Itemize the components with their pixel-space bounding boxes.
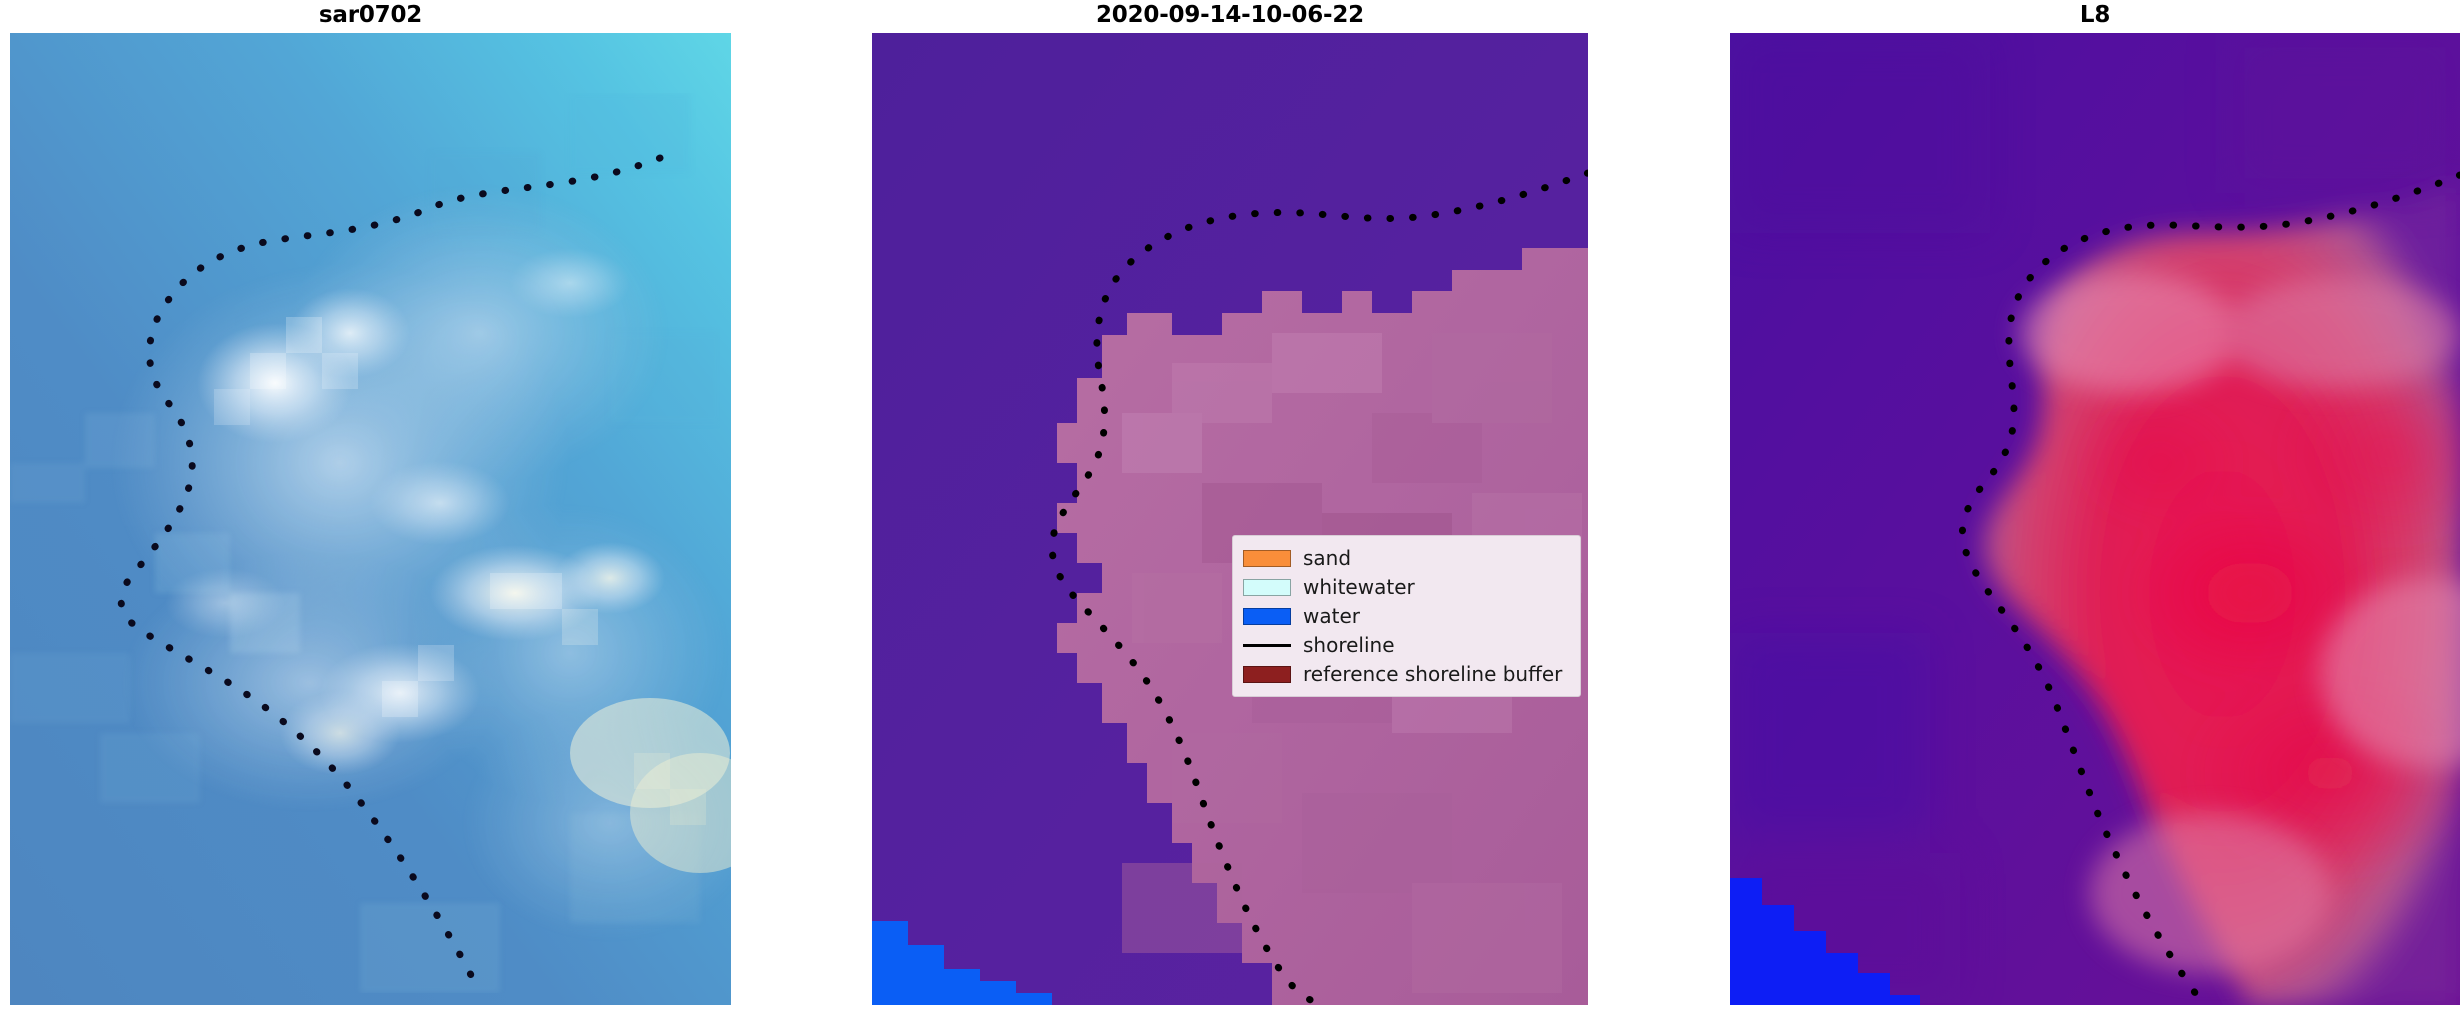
shoreline-line-swatch	[1243, 644, 1291, 647]
legend-item-reference-shoreline-buffer[interactable]: reference shoreline buffer	[1243, 660, 1570, 689]
legend-label-water: water	[1301, 602, 1360, 631]
legend-label-reference-shoreline-buffer: reference shoreline buffer	[1301, 660, 1562, 689]
water-color-swatch	[1243, 608, 1291, 625]
panel-l8[interactable]	[1730, 33, 2460, 1005]
legend-label-shoreline: shoreline	[1301, 631, 1395, 660]
legend-label-whitewater: whitewater	[1301, 573, 1415, 602]
legend-item-water[interactable]: water	[1243, 602, 1570, 631]
reference-buffer-color-swatch	[1243, 666, 1291, 683]
sand-color-swatch	[1243, 550, 1291, 567]
legend-item-whitewater[interactable]: whitewater	[1243, 573, 1570, 602]
whitewater-swatch-cell	[1243, 573, 1301, 602]
panel-title-classification: 2020-09-14-10-06-22	[872, 0, 1588, 33]
shoreline-swatch-cell	[1243, 631, 1301, 660]
panel-title-sar: sar0702	[10, 0, 731, 33]
whitewater-color-swatch	[1243, 579, 1291, 596]
panel-sar[interactable]	[10, 33, 731, 1005]
sand-swatch-cell	[1243, 544, 1301, 573]
legend-item-shoreline[interactable]: shoreline	[1243, 631, 1570, 660]
legend-box[interactable]: sand whitewater water shoreline referenc	[1232, 535, 1581, 697]
legend-label-sand: sand	[1301, 544, 1351, 573]
figure-canvas: sar0702 2020-09-14-10-06-22 L8	[0, 0, 2460, 1021]
reference-buffer-swatch-cell	[1243, 660, 1301, 689]
classification-raster-image	[872, 33, 1588, 1005]
panel-classification[interactable]	[872, 33, 1588, 1005]
legend-item-sand[interactable]: sand	[1243, 544, 1570, 573]
l8-raster-image	[1730, 33, 2460, 1005]
sar-raster-image	[10, 33, 731, 1005]
panel-title-l8: L8	[1730, 0, 2460, 33]
water-swatch-cell	[1243, 602, 1301, 631]
